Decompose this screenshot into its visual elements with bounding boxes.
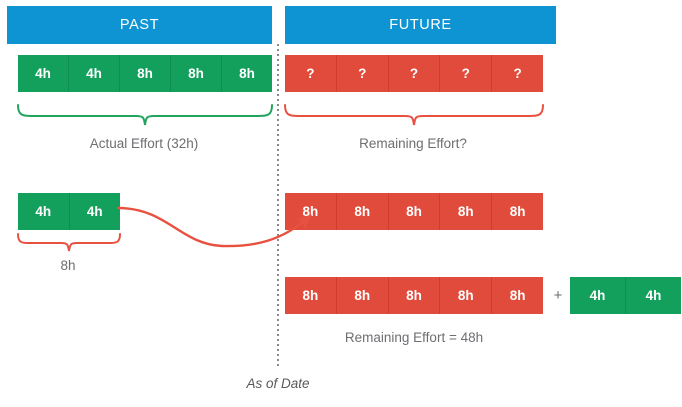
reassign-effort-arrow [112, 196, 327, 258]
block-cell: 8h [440, 277, 492, 314]
block-cell: 8h [222, 55, 272, 92]
row1-past-blocks: 4h 4h 8h 8h 8h [18, 55, 272, 92]
block-cell: 8h [337, 193, 389, 230]
remaining-effort-caption: Remaining Effort? [283, 136, 543, 151]
block-cell: 8h [120, 55, 171, 92]
block-cell: ? [492, 55, 543, 92]
eight-hour-bracket [16, 232, 122, 256]
actual-effort-caption: Actual Effort (32h) [16, 136, 272, 151]
block-cell: 4h [570, 277, 626, 314]
block-cell: 8h [389, 193, 441, 230]
past-band-label: PAST [120, 17, 159, 33]
block-cell: 8h [337, 277, 389, 314]
block-cell: 8h [285, 277, 337, 314]
future-band: FUTURE [285, 6, 556, 44]
as-of-date-caption: As of Date [203, 376, 353, 391]
block-cell: ? [337, 55, 389, 92]
block-cell: 4h [18, 193, 70, 230]
remaining-effort-total-caption: Remaining Effort = 48h [285, 330, 543, 345]
eight-hour-caption: 8h [16, 258, 120, 273]
plus-operator: + [548, 277, 568, 314]
block-cell: 4h [18, 55, 69, 92]
future-band-label: FUTURE [389, 17, 451, 33]
block-cell: 8h [492, 193, 543, 230]
block-cell: 8h [171, 55, 222, 92]
block-cell: 4h [626, 277, 681, 314]
past-band: PAST [7, 6, 272, 44]
block-cell: ? [389, 55, 441, 92]
block-cell: 8h [440, 193, 492, 230]
row1-future-blocks: ? ? ? ? ? [285, 55, 543, 92]
actual-effort-bracket [16, 103, 274, 129]
block-cell: 4h [69, 55, 120, 92]
diagram-canvas: PAST FUTURE 4h 4h 8h 8h 8h ? ? ? ? ? Act… [0, 0, 682, 407]
row3-future-blocks: 8h 8h 8h 8h 8h [285, 277, 543, 314]
block-cell: 8h [389, 277, 441, 314]
row2-past-blocks: 4h 4h [18, 193, 120, 230]
block-cell: ? [440, 55, 492, 92]
remaining-effort-bracket [283, 103, 545, 129]
block-cell: ? [285, 55, 337, 92]
block-cell: 8h [492, 277, 543, 314]
row3-extra-blocks: 4h 4h [570, 277, 681, 314]
